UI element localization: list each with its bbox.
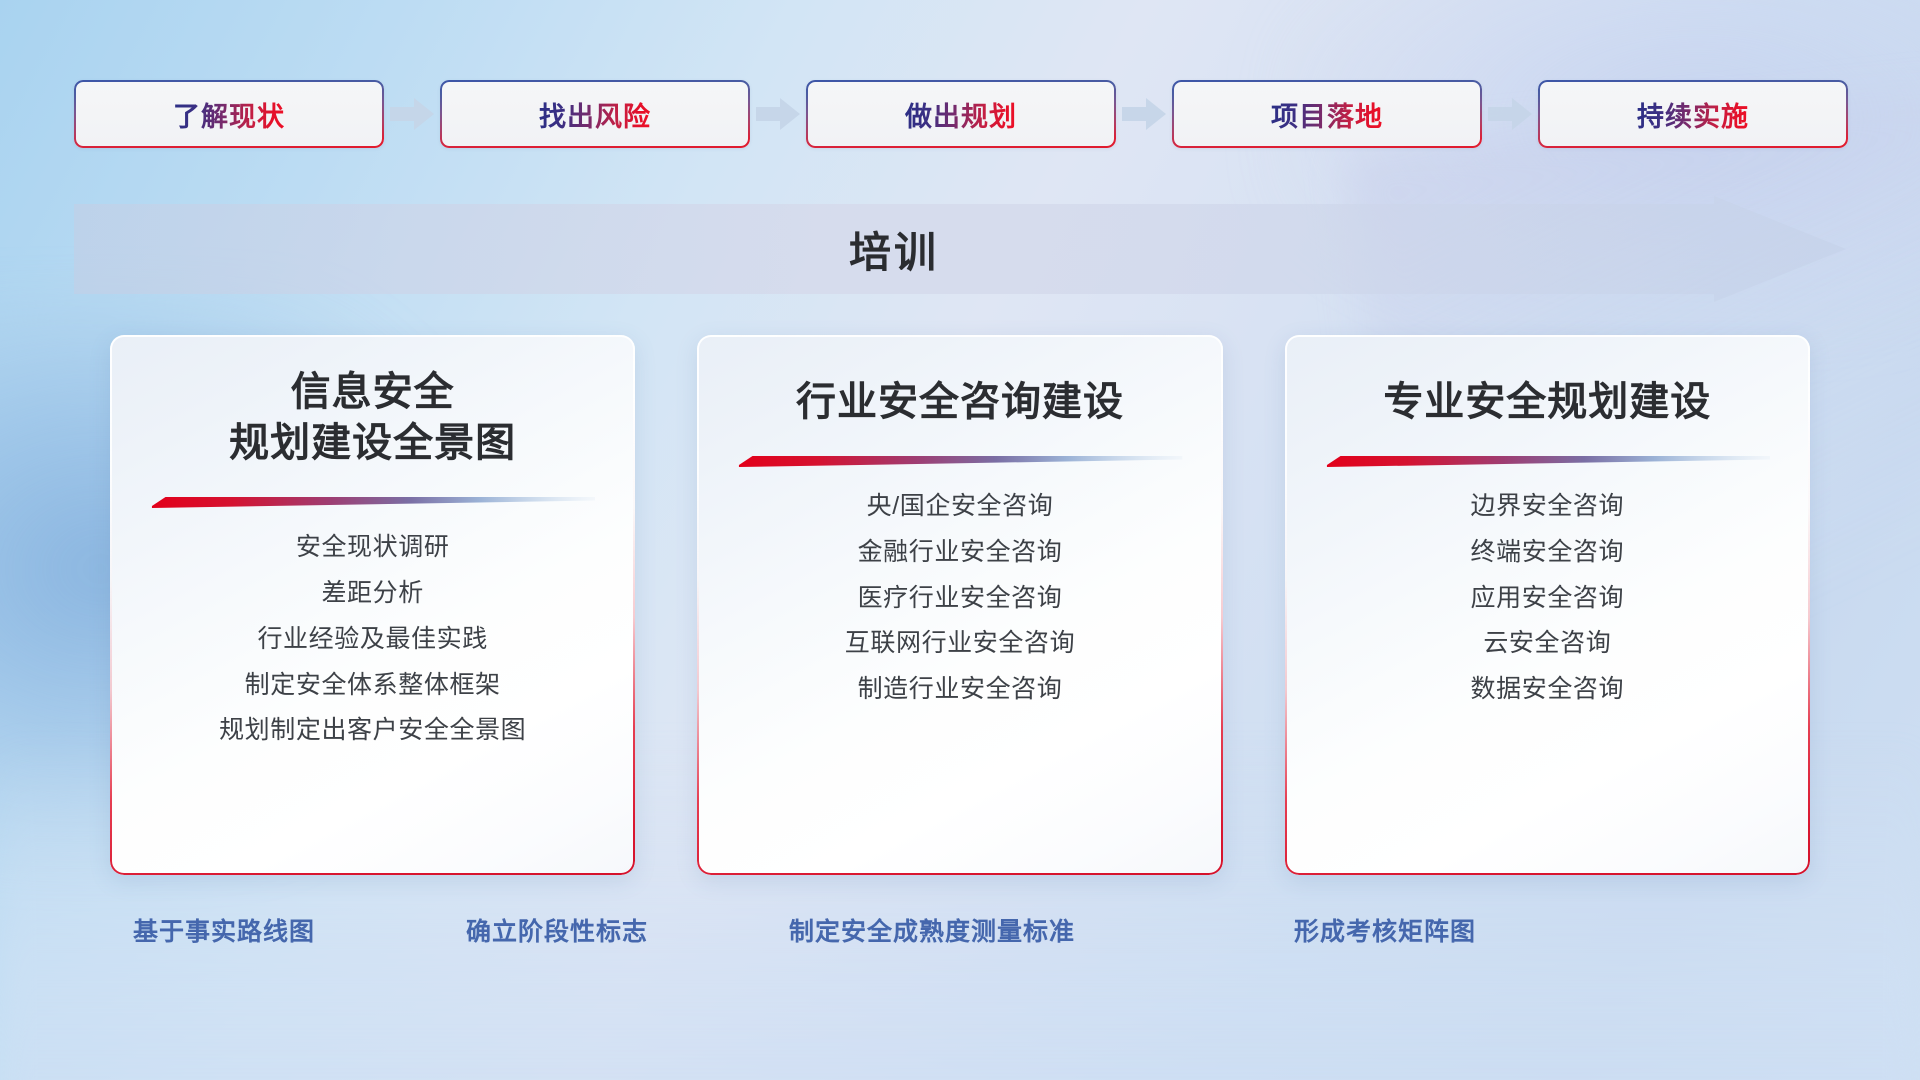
chevron-right-arrow-icon	[390, 97, 434, 131]
service-card-3[interactable]: 专业安全规划建设边界安全咨询终端安全咨询应用安全咨询云安全咨询数据安全咨询	[1285, 335, 1810, 875]
step-connector-arrow-2	[750, 94, 806, 134]
card-title-1: 信息安全 规划建设全景图	[144, 367, 601, 469]
card-list-2: 央/国企安全咨询金融行业安全咨询医疗行业安全咨询互联网行业安全咨询制造行业安全咨…	[731, 490, 1188, 707]
step-label-3: 做出规划	[905, 95, 1017, 134]
step-box-2[interactable]: 找出风险	[440, 80, 750, 148]
chevron-right-arrow-icon	[756, 97, 800, 131]
step-label-5: 持续实施	[1637, 95, 1749, 134]
step-box-1[interactable]: 了解现状	[74, 80, 384, 148]
chevron-right-arrow-icon	[1488, 97, 1532, 131]
step-label-4: 项目落地	[1271, 95, 1383, 134]
card-list-item[interactable]: 制造行业安全咨询	[858, 673, 1063, 707]
step-box-3[interactable]: 做出规划	[806, 80, 1116, 148]
tapered-gradient-rule-icon	[1325, 454, 1770, 468]
card-list-item[interactable]: 规划制定出客户安全全景图	[219, 714, 526, 748]
card-list-item[interactable]: 云安全咨询	[1483, 627, 1611, 661]
card-title-2: 行业安全咨询建设	[731, 377, 1188, 428]
card-list-1: 安全现状调研差距分析行业经验及最佳实践制定安全体系整体框架规划制定出客户安全全景…	[144, 531, 601, 748]
card-list-item[interactable]: 医疗行业安全咨询	[858, 582, 1063, 616]
chevron-right-arrow-icon	[1122, 97, 1166, 131]
footer-label-1: 基于事实路线图	[133, 912, 315, 948]
step-connector-arrow-4	[1482, 94, 1538, 134]
training-banner: 培训	[74, 196, 1846, 302]
step-label-1: 了解现状	[173, 95, 285, 134]
card-list-item[interactable]: 应用安全咨询	[1471, 582, 1625, 616]
card-title-3: 专业安全规划建设	[1319, 377, 1776, 428]
card-list-item[interactable]: 差距分析	[321, 577, 423, 611]
card-list-3: 边界安全咨询终端安全咨询应用安全咨询云安全咨询数据安全咨询	[1319, 490, 1776, 707]
card-list-item[interactable]: 制定安全体系整体框架	[245, 669, 501, 703]
tapered-gradient-rule-icon	[737, 454, 1182, 468]
footer-label-3: 制定安全成熟度测量标准	[789, 912, 1075, 948]
cards-row: 信息安全 规划建设全景图安全现状调研差距分析行业经验及最佳实践制定安全体系整体框…	[110, 335, 1810, 875]
service-card-2[interactable]: 行业安全咨询建设央/国企安全咨询金融行业安全咨询医疗行业安全咨询互联网行业安全咨…	[697, 335, 1222, 875]
step-box-5[interactable]: 持续实施	[1538, 80, 1848, 148]
step-connector-arrow-1	[384, 94, 440, 134]
card-divider-1	[150, 495, 595, 509]
card-list-item[interactable]: 行业经验及最佳实践	[257, 623, 487, 657]
process-steps-row: 了解现状 找出风险 做出规划 项目落地 持续实施	[74, 80, 1846, 148]
card-divider-3	[1325, 454, 1770, 468]
card-list-item[interactable]: 数据安全咨询	[1471, 673, 1625, 707]
card-divider-2	[737, 454, 1182, 468]
card-list-item[interactable]: 互联网行业安全咨询	[845, 627, 1075, 661]
card-list-item[interactable]: 边界安全咨询	[1471, 490, 1625, 524]
card-list-item[interactable]: 金融行业安全咨询	[858, 536, 1063, 570]
footer-label-4: 形成考核矩阵图	[1294, 912, 1476, 948]
card-list-item[interactable]: 终端安全咨询	[1471, 536, 1625, 570]
card-list-item[interactable]: 安全现状调研	[296, 531, 450, 565]
banner-title: 培训	[74, 196, 1714, 302]
tapered-gradient-rule-icon	[150, 495, 595, 509]
step-label-2: 找出风险	[539, 95, 651, 134]
step-box-4[interactable]: 项目落地	[1172, 80, 1482, 148]
step-connector-arrow-3	[1116, 94, 1172, 134]
service-card-1[interactable]: 信息安全 规划建设全景图安全现状调研差距分析行业经验及最佳实践制定安全体系整体框…	[110, 335, 635, 875]
footer-labels-row: 基于事实路线图确立阶段性标志制定安全成熟度测量标准形成考核矩阵图	[0, 912, 1920, 958]
card-list-item[interactable]: 央/国企安全咨询	[867, 490, 1054, 524]
footer-label-2: 确立阶段性标志	[466, 912, 648, 948]
